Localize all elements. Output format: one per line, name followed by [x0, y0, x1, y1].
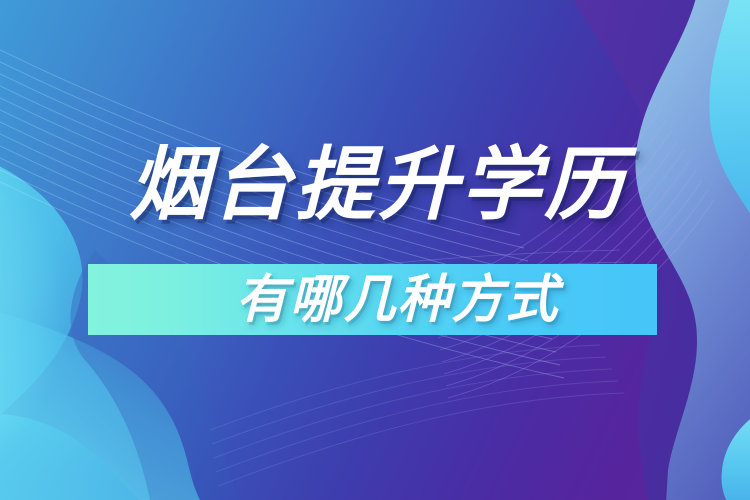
subtitle-container: 有哪几种方式	[88, 264, 657, 335]
background-waves	[0, 0, 750, 500]
banner-subtitle: 有哪几种方式	[235, 272, 559, 328]
title-container: 烟台提升学历	[0, 142, 750, 228]
promo-banner: 烟台提升学历 有哪几种方式	[0, 0, 750, 500]
banner-title: 烟台提升学历	[123, 142, 627, 228]
